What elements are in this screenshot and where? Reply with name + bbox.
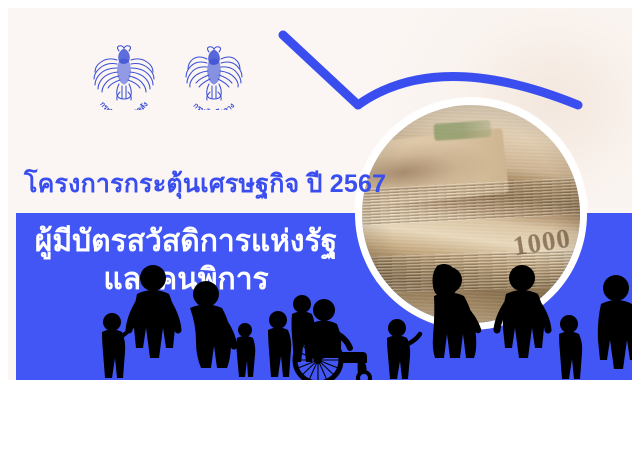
silhouette-wheelchair-user — [295, 299, 370, 380]
page-title: โครงการกระตุ้นเศรษฐกิจ ปี 2567 — [24, 172, 386, 197]
subtitle-line-1: ผู้มีบัตรสวัสดิการแห่งรัฐ — [16, 223, 356, 261]
subtitle-block: ผู้มีบัตรสวัสดิการแห่งรัฐ และคนพิการ — [16, 223, 356, 300]
photo-vignette-lower — [362, 213, 580, 323]
silhouette-child-2 — [268, 311, 291, 377]
silhouette-child-far-left — [292, 295, 316, 362]
banknote-photo-surface-lower: 1000 — [362, 213, 580, 323]
comptroller-general-department-garuda-emblem: กรมบัญชีกลาง — [176, 42, 252, 110]
government-emblem-row: กระทรวงการคลัง — [86, 42, 252, 110]
silhouette-child-4 — [559, 315, 582, 379]
silhouette-adult-4 — [497, 265, 548, 358]
blue-content-panel: 1000 ผู้มีบัตรสวัสดิการแห่งรัฐ และคนพิกา… — [16, 213, 632, 380]
poster-canvas: กระทรวงการคลัง — [0, 0, 640, 452]
banknote-edge-texture-lower — [362, 213, 580, 323]
svg-text:กรมบัญชีกลาง: กรมบัญชีกลาง — [192, 101, 237, 110]
banknote-stack-lower-lower — [361, 249, 580, 294]
svg-text:กระทรวงการคลัง: กระทรวงการคลัง — [98, 100, 150, 110]
silhouette-child-3 — [387, 319, 420, 379]
banknote-photo-lower-half: 1000 — [355, 213, 587, 330]
silhouette-adult-3 — [433, 264, 479, 358]
ministry-of-finance-garuda-emblem: กระทรวงการคลัง — [86, 42, 162, 110]
silhouette-toddler — [237, 323, 256, 377]
subtitle-line-2: และคนพิการ — [16, 261, 356, 299]
silhouette-adult-far-right — [598, 275, 632, 369]
banknote-stack-upper-lower — [361, 213, 581, 226]
banknote-denomination-label-lower: 1000 — [511, 223, 573, 263]
bottom-white-area — [0, 380, 640, 452]
cream-background-panel: กระทรวงการคลัง — [8, 8, 632, 380]
silhouette-child-1 — [102, 313, 134, 378]
